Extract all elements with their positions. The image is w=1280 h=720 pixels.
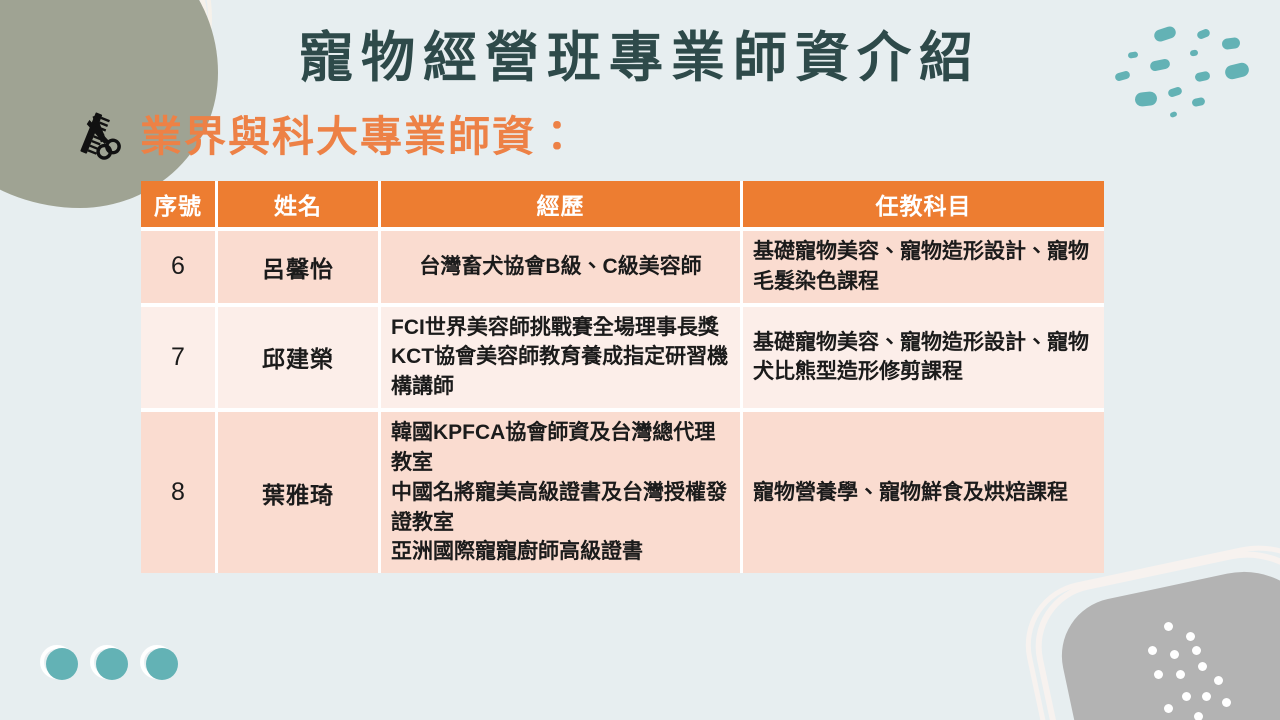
cell-sequence-number: 8 bbox=[141, 412, 218, 573]
slide-canvas: 寵物經營班專業師資介紹 bbox=[0, 0, 1280, 720]
column-header-exp: 經歷 bbox=[381, 181, 743, 231]
table-row: 8葉雅琦韓國KPFCA協會師資及台灣總代理教室中國名將寵美高級證書及台灣授權發證… bbox=[141, 412, 1104, 573]
speckle-dot bbox=[1194, 712, 1203, 720]
experience-line: 韓國KPFCA協會師資及台灣總代理教室 bbox=[391, 418, 730, 478]
cell-instructor-name: 邱建榮 bbox=[218, 307, 381, 412]
decorative-circle bbox=[90, 645, 128, 683]
circle-fill bbox=[146, 648, 178, 680]
page-title: 寵物經營班專業師資介紹 bbox=[0, 28, 1280, 88]
faculty-table: 序號 姓名 經歷 任教科目 6呂馨怡台灣畜犬協會B級、C級美容師基礎寵物美容、寵… bbox=[141, 181, 1104, 573]
bottom-right-gray-blob bbox=[1051, 557, 1280, 720]
cell-sequence-number: 7 bbox=[141, 307, 218, 412]
cell-experience: 台灣畜犬協會B級、C級美容師 bbox=[381, 231, 743, 307]
decorative-circle bbox=[40, 645, 78, 683]
cell-experience: 韓國KPFCA協會師資及台灣總代理教室中國名將寵美高級證書及台灣授權發證教室亞洲… bbox=[381, 412, 743, 573]
scissors-comb-icon bbox=[78, 112, 124, 162]
speckle-dot bbox=[1182, 692, 1191, 701]
circle-fill bbox=[96, 648, 128, 680]
cell-sequence-number: 6 bbox=[141, 231, 218, 307]
subtitle-row: 業界與科大專業師資： bbox=[78, 112, 580, 162]
column-header-no: 序號 bbox=[141, 181, 218, 231]
cell-instructor-name: 葉雅琦 bbox=[218, 412, 381, 573]
speckle-dot bbox=[1214, 676, 1223, 685]
table-row: 7邱建榮FCI世界美容師挑戰賽全場理事長獎KCT協會美容師教育養成指定研習機構講… bbox=[141, 307, 1104, 412]
speckle-dot bbox=[1186, 632, 1195, 641]
confetti-dash bbox=[1134, 91, 1157, 107]
experience-line: 中國名將寵美高級證書及台灣授權發證教室 bbox=[391, 478, 730, 538]
column-header-name: 姓名 bbox=[218, 181, 381, 231]
confetti-dash bbox=[1191, 97, 1205, 108]
subtitle-text: 業界與科大專業師資： bbox=[140, 116, 580, 158]
cell-subjects-taught: 基礎寵物美容、寵物造形設計、寵物毛髮染色課程 bbox=[743, 231, 1104, 307]
experience-line: 亞洲國際寵寵廚師高級證書 bbox=[391, 537, 730, 567]
speckle-dot bbox=[1176, 670, 1185, 679]
cell-subjects-taught: 寵物營養學、寵物鮮食及烘焙課程 bbox=[743, 412, 1104, 573]
experience-line: KCT協會美容師教育養成指定研習機構講師 bbox=[391, 342, 730, 402]
cell-subjects-taught: 基礎寵物美容、寵物造形設計、寵物犬比熊型造形修剪課程 bbox=[743, 307, 1104, 412]
cell-experience: FCI世界美容師挑戰賽全場理事長獎KCT協會美容師教育養成指定研習機構講師 bbox=[381, 307, 743, 412]
table-header: 序號 姓名 經歷 任教科目 bbox=[141, 181, 1104, 231]
confetti-dash bbox=[1169, 111, 1177, 118]
speckle-dot bbox=[1148, 646, 1157, 655]
decorative-circle bbox=[140, 645, 178, 683]
speckle-dot bbox=[1202, 692, 1211, 701]
experience-line: FCI世界美容師挑戰賽全場理事長獎 bbox=[391, 313, 730, 343]
speckle-dot bbox=[1154, 670, 1163, 679]
speckle-dot bbox=[1170, 650, 1179, 659]
faculty-table-container: 序號 姓名 經歷 任教科目 6呂馨怡台灣畜犬協會B級、C級美容師基礎寵物美容、寵… bbox=[141, 181, 1104, 573]
circle-fill bbox=[46, 648, 78, 680]
speckle-dot bbox=[1222, 698, 1231, 707]
experience-line: 台灣畜犬協會B級、C級美容師 bbox=[391, 252, 730, 282]
speckle-dot bbox=[1164, 622, 1173, 631]
speckle-dot bbox=[1192, 646, 1201, 655]
speckle-dot bbox=[1198, 662, 1207, 671]
cell-instructor-name: 呂馨怡 bbox=[218, 231, 381, 307]
bottom-right-speckles bbox=[1102, 600, 1252, 720]
column-header-subjects: 任教科目 bbox=[743, 181, 1104, 231]
table-header-row: 序號 姓名 經歷 任教科目 bbox=[141, 181, 1104, 231]
speckle-dot bbox=[1164, 704, 1173, 713]
table-body: 6呂馨怡台灣畜犬協會B級、C級美容師基礎寵物美容、寵物造形設計、寵物毛髮染色課程… bbox=[141, 231, 1104, 573]
table-row: 6呂馨怡台灣畜犬協會B級、C級美容師基礎寵物美容、寵物造形設計、寵物毛髮染色課程 bbox=[141, 231, 1104, 307]
